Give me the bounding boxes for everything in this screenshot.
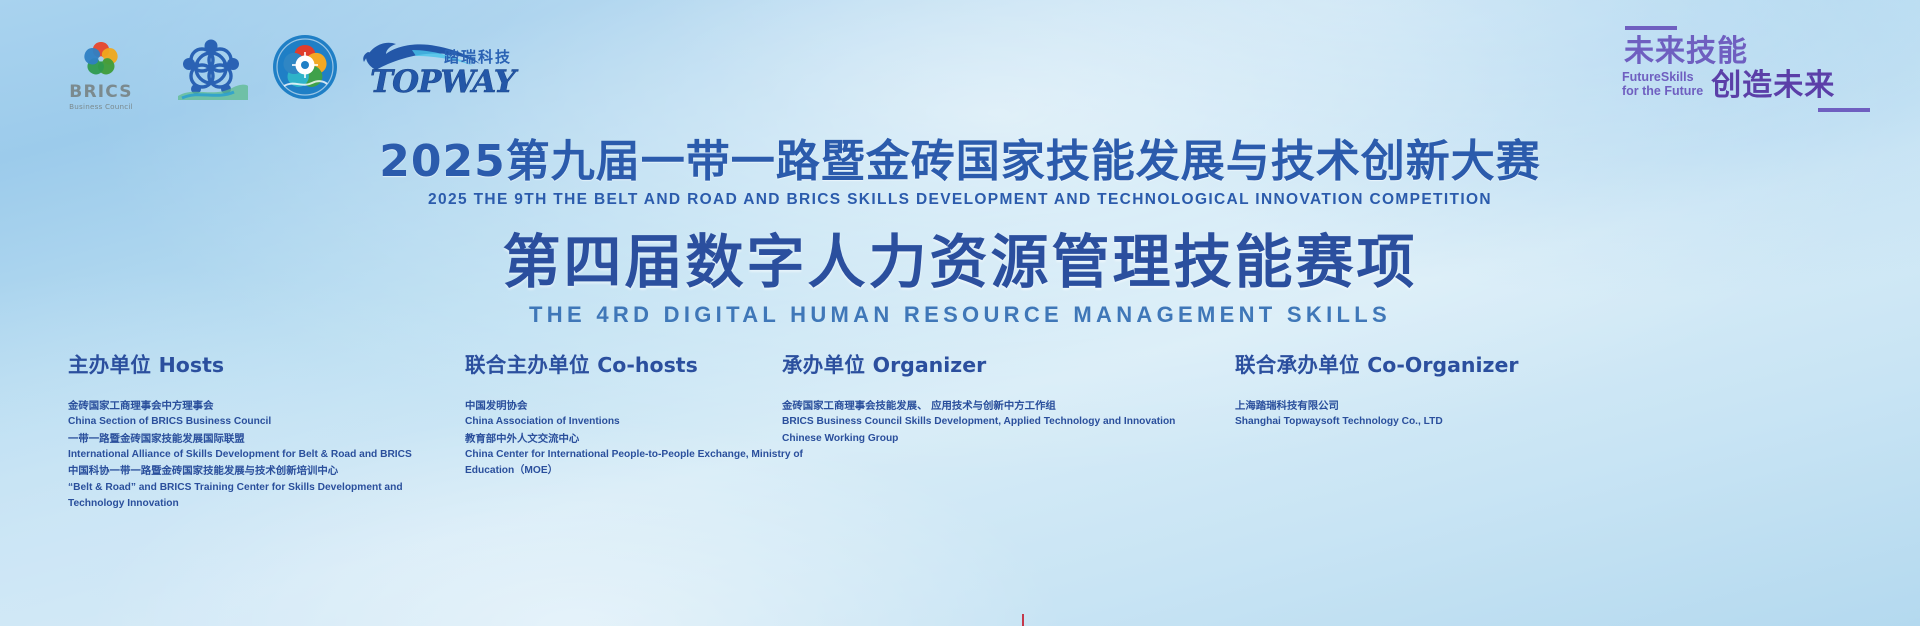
organizer-line: 中国发明协会 xyxy=(465,398,805,414)
organizer-column-organizer: 承办单位 Organizer 金砖国家工商理事会技能发展、 应用技术与创新中方工… xyxy=(782,348,1182,447)
brics-business-council-logo: BRICS Business Council xyxy=(60,34,142,118)
organizer-line: “Belt & Road” and BRICS Training Center … xyxy=(68,480,448,512)
organizer-line: 金砖国家工商理事会中方理事会 xyxy=(68,398,448,414)
slogan-rule-bottom xyxy=(1818,108,1870,112)
main-title-en: 2025 THE 9TH THE BELT AND ROAD AND BRICS… xyxy=(0,191,1920,209)
organizer-line: Shanghai Topwaysoft Technology Co., LTD xyxy=(1235,414,1615,430)
topway-logo: 踏瑞科技 TOPWAY xyxy=(362,34,512,118)
organizer-list: 中国发明协会 China Association of Inventions 教… xyxy=(465,398,805,479)
organizer-line: 一带一路暨金砖国家技能发展国际联盟 xyxy=(68,431,448,447)
sub-title-cn: 第四届数字人力资源管理技能赛项 xyxy=(0,231,1920,295)
organizer-column-coorganizer: 联合承办单位 Co-Organizer 上海踏瑞科技有限公司 Shanghai … xyxy=(1235,348,1615,431)
heading-en: Co-hosts xyxy=(597,353,698,377)
slogan-en-line2: for the Future xyxy=(1622,84,1703,98)
heading-en: Organizer xyxy=(873,353,987,377)
brics-logo-wordmark: BRICS xyxy=(60,84,142,101)
bottom-center-marker xyxy=(1022,614,1024,626)
main-title-cn: 2025第九届一带一路暨金砖国家技能发展与技术创新大赛 xyxy=(0,138,1920,186)
competition-banner: BRICS Business Council xyxy=(0,0,1920,626)
organizer-line: China Association of Inventions xyxy=(465,414,805,430)
slogan-en-line1: FutureSkills xyxy=(1622,70,1703,84)
organizer-list: 上海踏瑞科技有限公司 Shanghai Topwaysoft Technolog… xyxy=(1235,398,1615,431)
belt-road-brics-alliance-logo xyxy=(172,34,250,118)
organizer-column-hosts: 主办单位 Hosts 金砖国家工商理事会中方理事会 China Section … xyxy=(68,348,448,512)
organizer-line: China Center for International People-to… xyxy=(465,447,805,479)
heading-cn: 联合承办单位 xyxy=(1235,353,1360,377)
organizer-line: 上海踏瑞科技有限公司 xyxy=(1235,398,1615,414)
organizer-list: 金砖国家工商理事会技能发展、 应用技术与创新中方工作组 BRICS Busine… xyxy=(782,398,1182,447)
brics-star-svg xyxy=(77,34,125,82)
organizer-columns: 主办单位 Hosts 金砖国家工商理事会中方理事会 China Section … xyxy=(0,348,1920,578)
sub-title-en: THE 4RD DIGITAL HUMAN RESOURCE MANAGEMEN… xyxy=(0,302,1920,328)
organizer-line: 金砖国家工商理事会技能发展、 应用技术与创新中方工作组 xyxy=(782,398,1182,414)
brics-logo-subtext: Business Council xyxy=(60,103,142,110)
organizer-line: 中国科协一带一路暨金砖国家技能发展与技术创新培训中心 xyxy=(68,463,448,479)
slogan-en: FutureSkills for the Future xyxy=(1622,70,1703,102)
organizer-column-heading: 主办单位 Hosts xyxy=(68,348,448,378)
organizer-line: International Alliance of Skills Develop… xyxy=(68,447,448,463)
organizer-line: China Section of BRICS Business Council xyxy=(68,414,448,430)
organizer-list: 金砖国家工商理事会中方理事会 China Section of BRICS Bu… xyxy=(68,398,448,512)
partner-logo-row: BRICS Business Council xyxy=(60,34,512,118)
slogan-cn-line1: 未来技能 xyxy=(1624,36,1872,68)
banner-title-group: 2025第九届一带一路暨金砖国家技能发展与技术创新大赛 2025 THE 9TH… xyxy=(0,138,1920,328)
slogan-cn-line2: 创造未来 xyxy=(1711,71,1835,101)
organizer-column-heading: 联合承办单位 Co-Organizer xyxy=(1235,348,1615,378)
heading-en: Co-Organizer xyxy=(1367,353,1518,377)
futureskills-slogan-block: 未来技能 FutureSkills for the Future 创造未来 xyxy=(1622,26,1872,134)
alliance-knot-icon xyxy=(172,34,250,102)
organizer-column-heading: 联合主办单位 Co-hosts xyxy=(465,348,805,378)
heading-en: Hosts xyxy=(159,353,224,377)
organizer-column-cohosts: 联合主办单位 Co-hosts 中国发明协会 China Association… xyxy=(465,348,805,479)
heading-cn: 联合主办单位 xyxy=(465,353,590,377)
topway-logo-en: TOPWAY xyxy=(370,64,515,100)
organizer-line: 教育部中外人文交流中心 xyxy=(465,431,805,447)
slogan-rule-top xyxy=(1625,26,1677,30)
skills-training-center-logo xyxy=(272,34,340,118)
heading-cn: 承办单位 xyxy=(782,353,865,377)
heading-cn: 主办单位 xyxy=(68,353,151,377)
organizer-column-heading: 承办单位 Organizer xyxy=(782,348,1182,378)
training-center-circle-icon xyxy=(272,34,338,100)
organizer-line: BRICS Business Council Skills Developmen… xyxy=(782,414,1182,446)
brics-star-icon xyxy=(77,34,125,82)
